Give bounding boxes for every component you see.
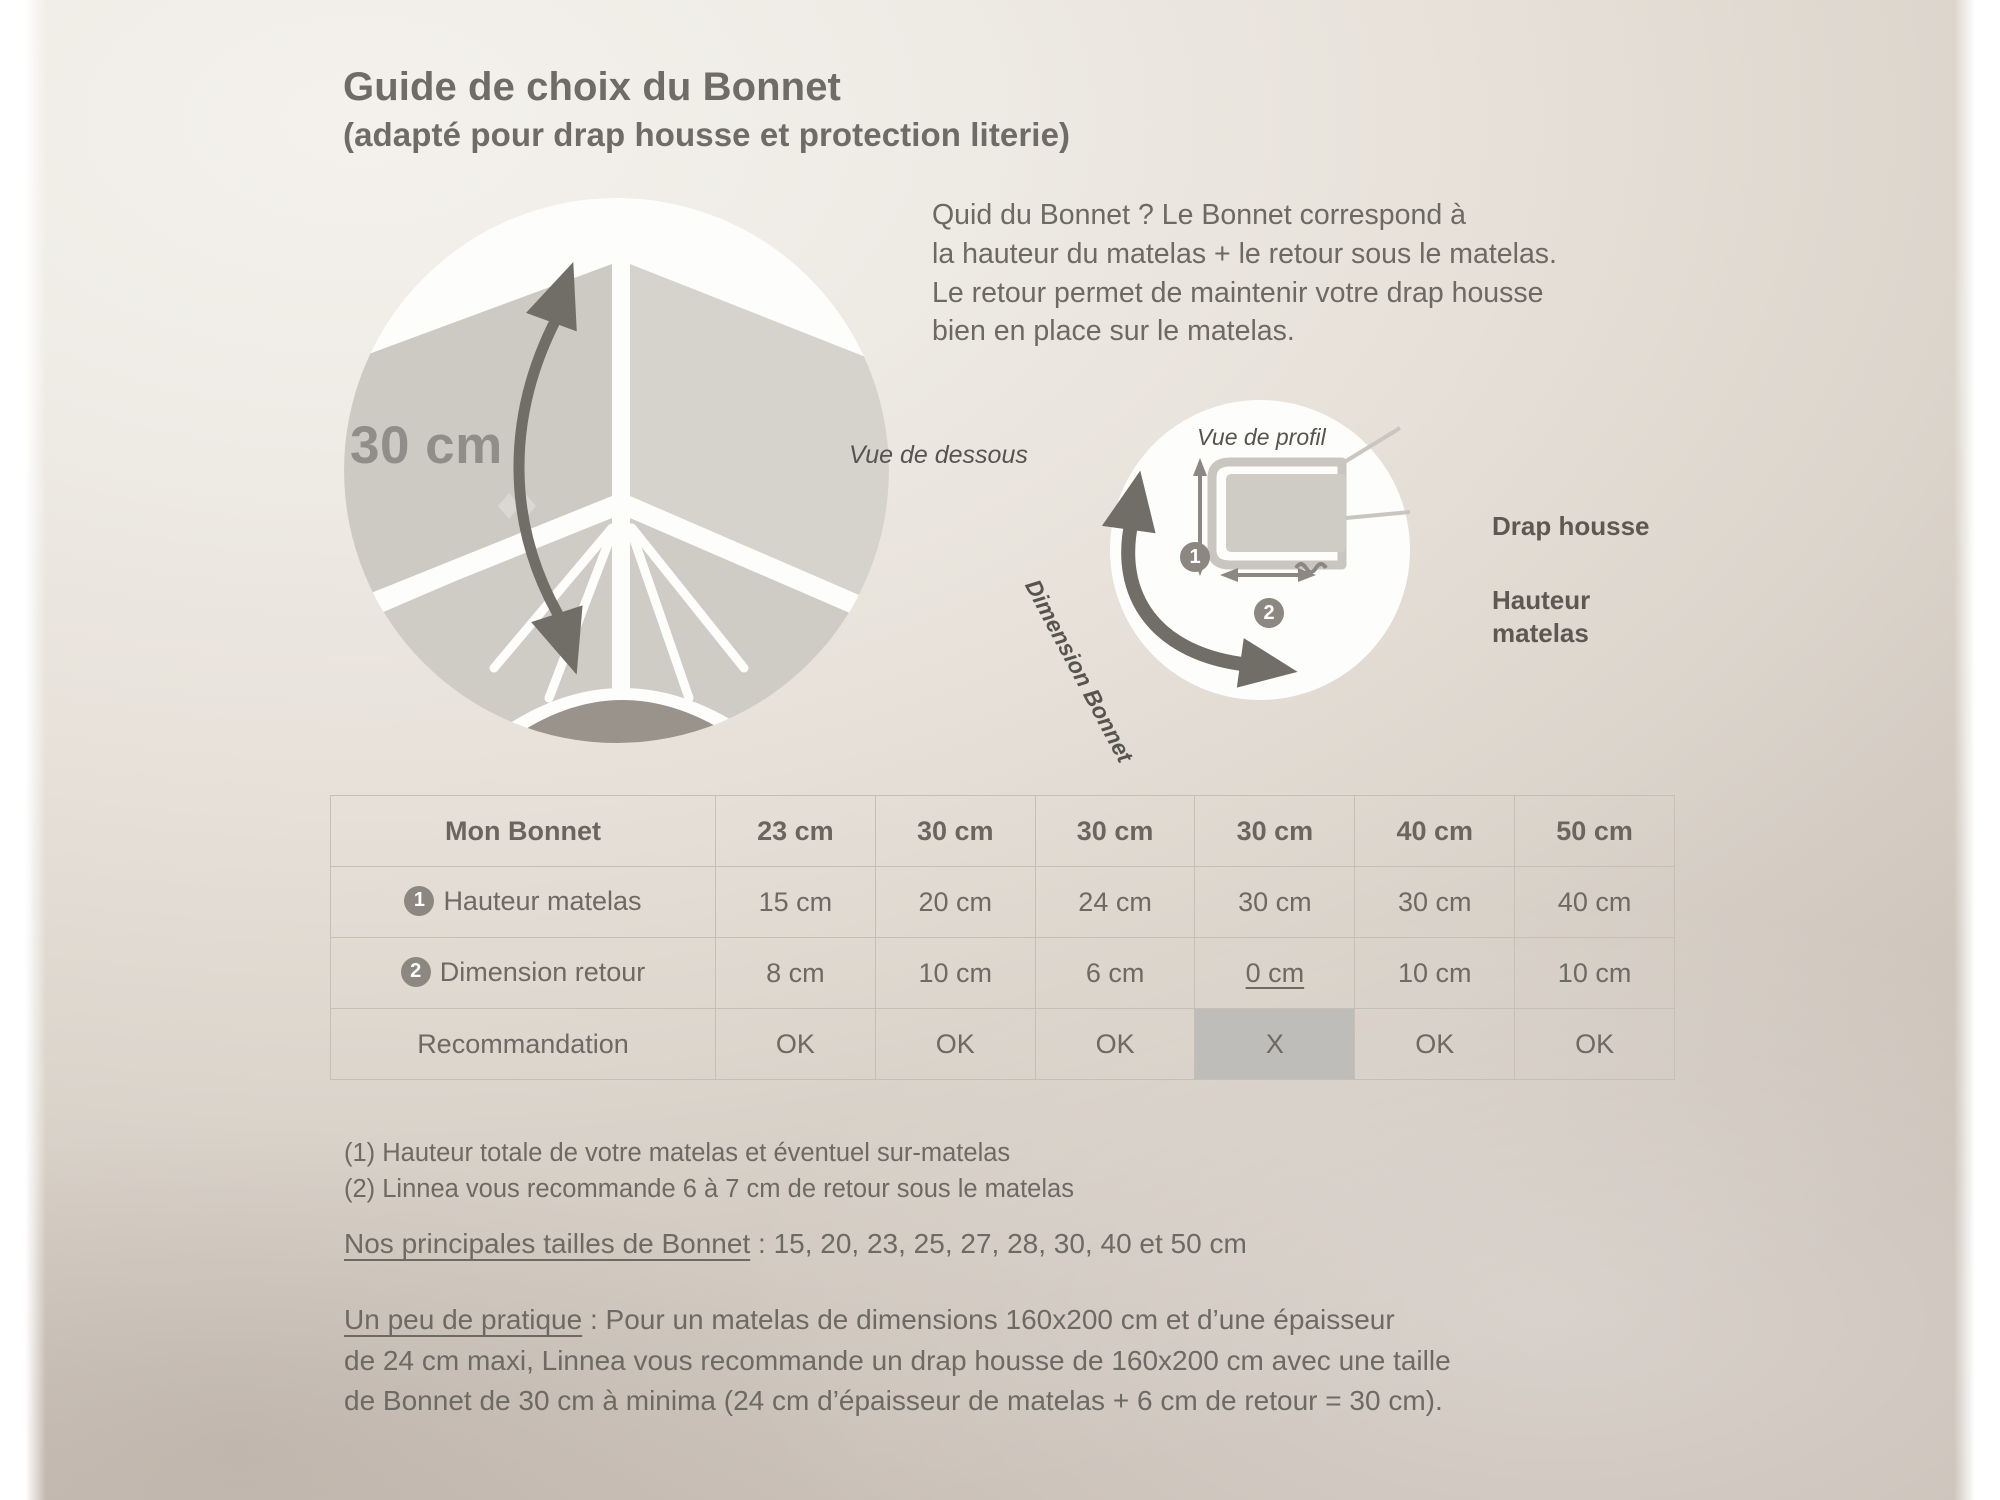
intro-line-3: Le retour permet de maintenir votre drap…: [932, 274, 1672, 313]
title-block: Guide de choix du Bonnet (adapté pour dr…: [343, 64, 1070, 155]
badge-2: 2: [401, 957, 431, 987]
page-subtitle: (adapté pour drap housse et protection l…: [343, 115, 1070, 155]
table-cell: 10 cm: [875, 938, 1035, 1009]
table-cell: 15 cm: [716, 867, 876, 938]
table-row-label-text: Dimension retour: [440, 957, 646, 987]
table-row-label: 1Hauteur matelas: [331, 867, 716, 938]
table-cell-underlined: 0 cm: [1246, 958, 1305, 988]
callout-drap-housse: Drap housse: [1492, 511, 1650, 542]
table-cell: 24 cm: [1035, 867, 1195, 938]
footnote-2: (2) Linnea vous recommande 6 à 7 cm de r…: [344, 1171, 1684, 1207]
intro-paragraph: Quid du Bonnet ? Le Bonnet correspond à …: [932, 196, 1672, 351]
practice-label: Un peu de pratique: [344, 1304, 582, 1335]
table-cell: OK: [1355, 1009, 1515, 1080]
table-header-cell: 40 cm: [1355, 796, 1515, 867]
table-cell: OK: [716, 1009, 876, 1080]
table-header-label: Mon Bonnet: [331, 796, 716, 867]
table-cell: 30 cm: [1195, 867, 1355, 938]
table-cell: OK: [875, 1009, 1035, 1080]
intro-line-4: bien en place sur le matelas.: [932, 312, 1672, 351]
label-vue-de-profil: Vue de profil: [1197, 424, 1326, 451]
bonnet-table: Mon Bonnet23 cm30 cm30 cm30 cm40 cm50 cm…: [330, 795, 1675, 1080]
badge-1: 1: [404, 886, 434, 916]
practice-line-2: de 24 cm maxi, Linnea vous recommande un…: [344, 1341, 1684, 1382]
center-seam: [612, 264, 630, 743]
table-header-cell: 30 cm: [875, 796, 1035, 867]
table-cell: 30 cm: [1355, 867, 1515, 938]
table-header-cell: 30 cm: [1195, 796, 1355, 867]
practice-line-1: Un peu de pratique : Pour un matelas de …: [344, 1300, 1684, 1341]
diagram-profile-view: Vue de profil 1 2: [1110, 400, 1410, 700]
practice-line-1-rest: : Pour un matelas de dimensions 160x200 …: [582, 1304, 1394, 1335]
table-row: 1Hauteur matelas15 cm20 cm24 cm30 cm30 c…: [331, 867, 1675, 938]
label-30-cm: 30 cm: [350, 415, 503, 476]
practice-line-3: de Bonnet de 30 cm à minima (24 cm d’épa…: [344, 1381, 1684, 1422]
table-cell: OK: [1035, 1009, 1195, 1080]
table-header-cell: 50 cm: [1515, 796, 1675, 867]
table-row-label: 2Dimension retour: [331, 938, 716, 1009]
table-row-label-text: Recommandation: [417, 1029, 629, 1059]
table-row: 2Dimension retour8 cm10 cm6 cm0 cm10 cm1…: [331, 938, 1675, 1009]
bonnet-table-body: Mon Bonnet23 cm30 cm30 cm30 cm40 cm50 cm…: [331, 796, 1675, 1080]
badge-1: 1: [1180, 542, 1210, 572]
sizes-label: Nos principales tailles de Bonnet: [344, 1228, 750, 1259]
callout-hauteur-line-2: matelas: [1492, 617, 1590, 650]
paragraph-practice: Un peu de pratique : Pour un matelas de …: [344, 1300, 1684, 1422]
callout-hauteur-matelas: Hauteur matelas: [1492, 584, 1590, 651]
page-gutter-right: [1954, 0, 2000, 1500]
table-cell: X: [1195, 1009, 1355, 1080]
table-cell: 8 cm: [716, 938, 876, 1009]
table-row-label-text: Hauteur matelas: [443, 886, 641, 916]
table-row-label: Recommandation: [331, 1009, 716, 1080]
sizes-rest: : 15, 20, 23, 25, 27, 28, 30, 40 et 50 c…: [750, 1228, 1247, 1259]
callout-leader-lines: [1338, 428, 1410, 518]
table-header-row: Mon Bonnet23 cm30 cm30 cm30 cm40 cm50 cm: [331, 796, 1675, 867]
infographic-page: Guide de choix du Bonnet (adapté pour dr…: [0, 0, 2000, 1500]
label-vue-de-dessous: Vue de dessous: [849, 441, 1028, 470]
callout-hauteur-line-1: Hauteur: [1492, 584, 1590, 617]
footnotes: (1) Hauteur totale de votre matelas et é…: [344, 1135, 1684, 1207]
table-cell: 0 cm: [1195, 938, 1355, 1009]
badge-2: 2: [1254, 598, 1284, 628]
table-cell: 10 cm: [1355, 938, 1515, 1009]
table-cell: 10 cm: [1515, 938, 1675, 1009]
footnote-1: (1) Hauteur totale de votre matelas et é…: [344, 1135, 1684, 1171]
page-gutter-left: [0, 0, 46, 1500]
table-cell: 40 cm: [1515, 867, 1675, 938]
intro-line-2: la hauteur du matelas + le retour sous l…: [932, 235, 1672, 274]
bonnet-table-wrap: Mon Bonnet23 cm30 cm30 cm30 cm40 cm50 cm…: [330, 795, 1675, 1080]
infographic-canvas: Guide de choix du Bonnet (adapté pour dr…: [0, 0, 2000, 1500]
table-header-cell: 30 cm: [1035, 796, 1195, 867]
page-title: Guide de choix du Bonnet: [343, 64, 1070, 111]
table-header-cell: 23 cm: [716, 796, 876, 867]
table-cell: 6 cm: [1035, 938, 1195, 1009]
paragraph-sizes: Nos principales tailles de Bonnet : 15, …: [344, 1228, 1684, 1260]
intro-line-1: Quid du Bonnet ? Le Bonnet correspond à: [932, 196, 1672, 235]
table-cell: 20 cm: [875, 867, 1035, 938]
table-cell: OK: [1515, 1009, 1675, 1080]
table-row: RecommandationOKOKOKXOKOK: [331, 1009, 1675, 1080]
mattress-block: [1226, 474, 1346, 552]
